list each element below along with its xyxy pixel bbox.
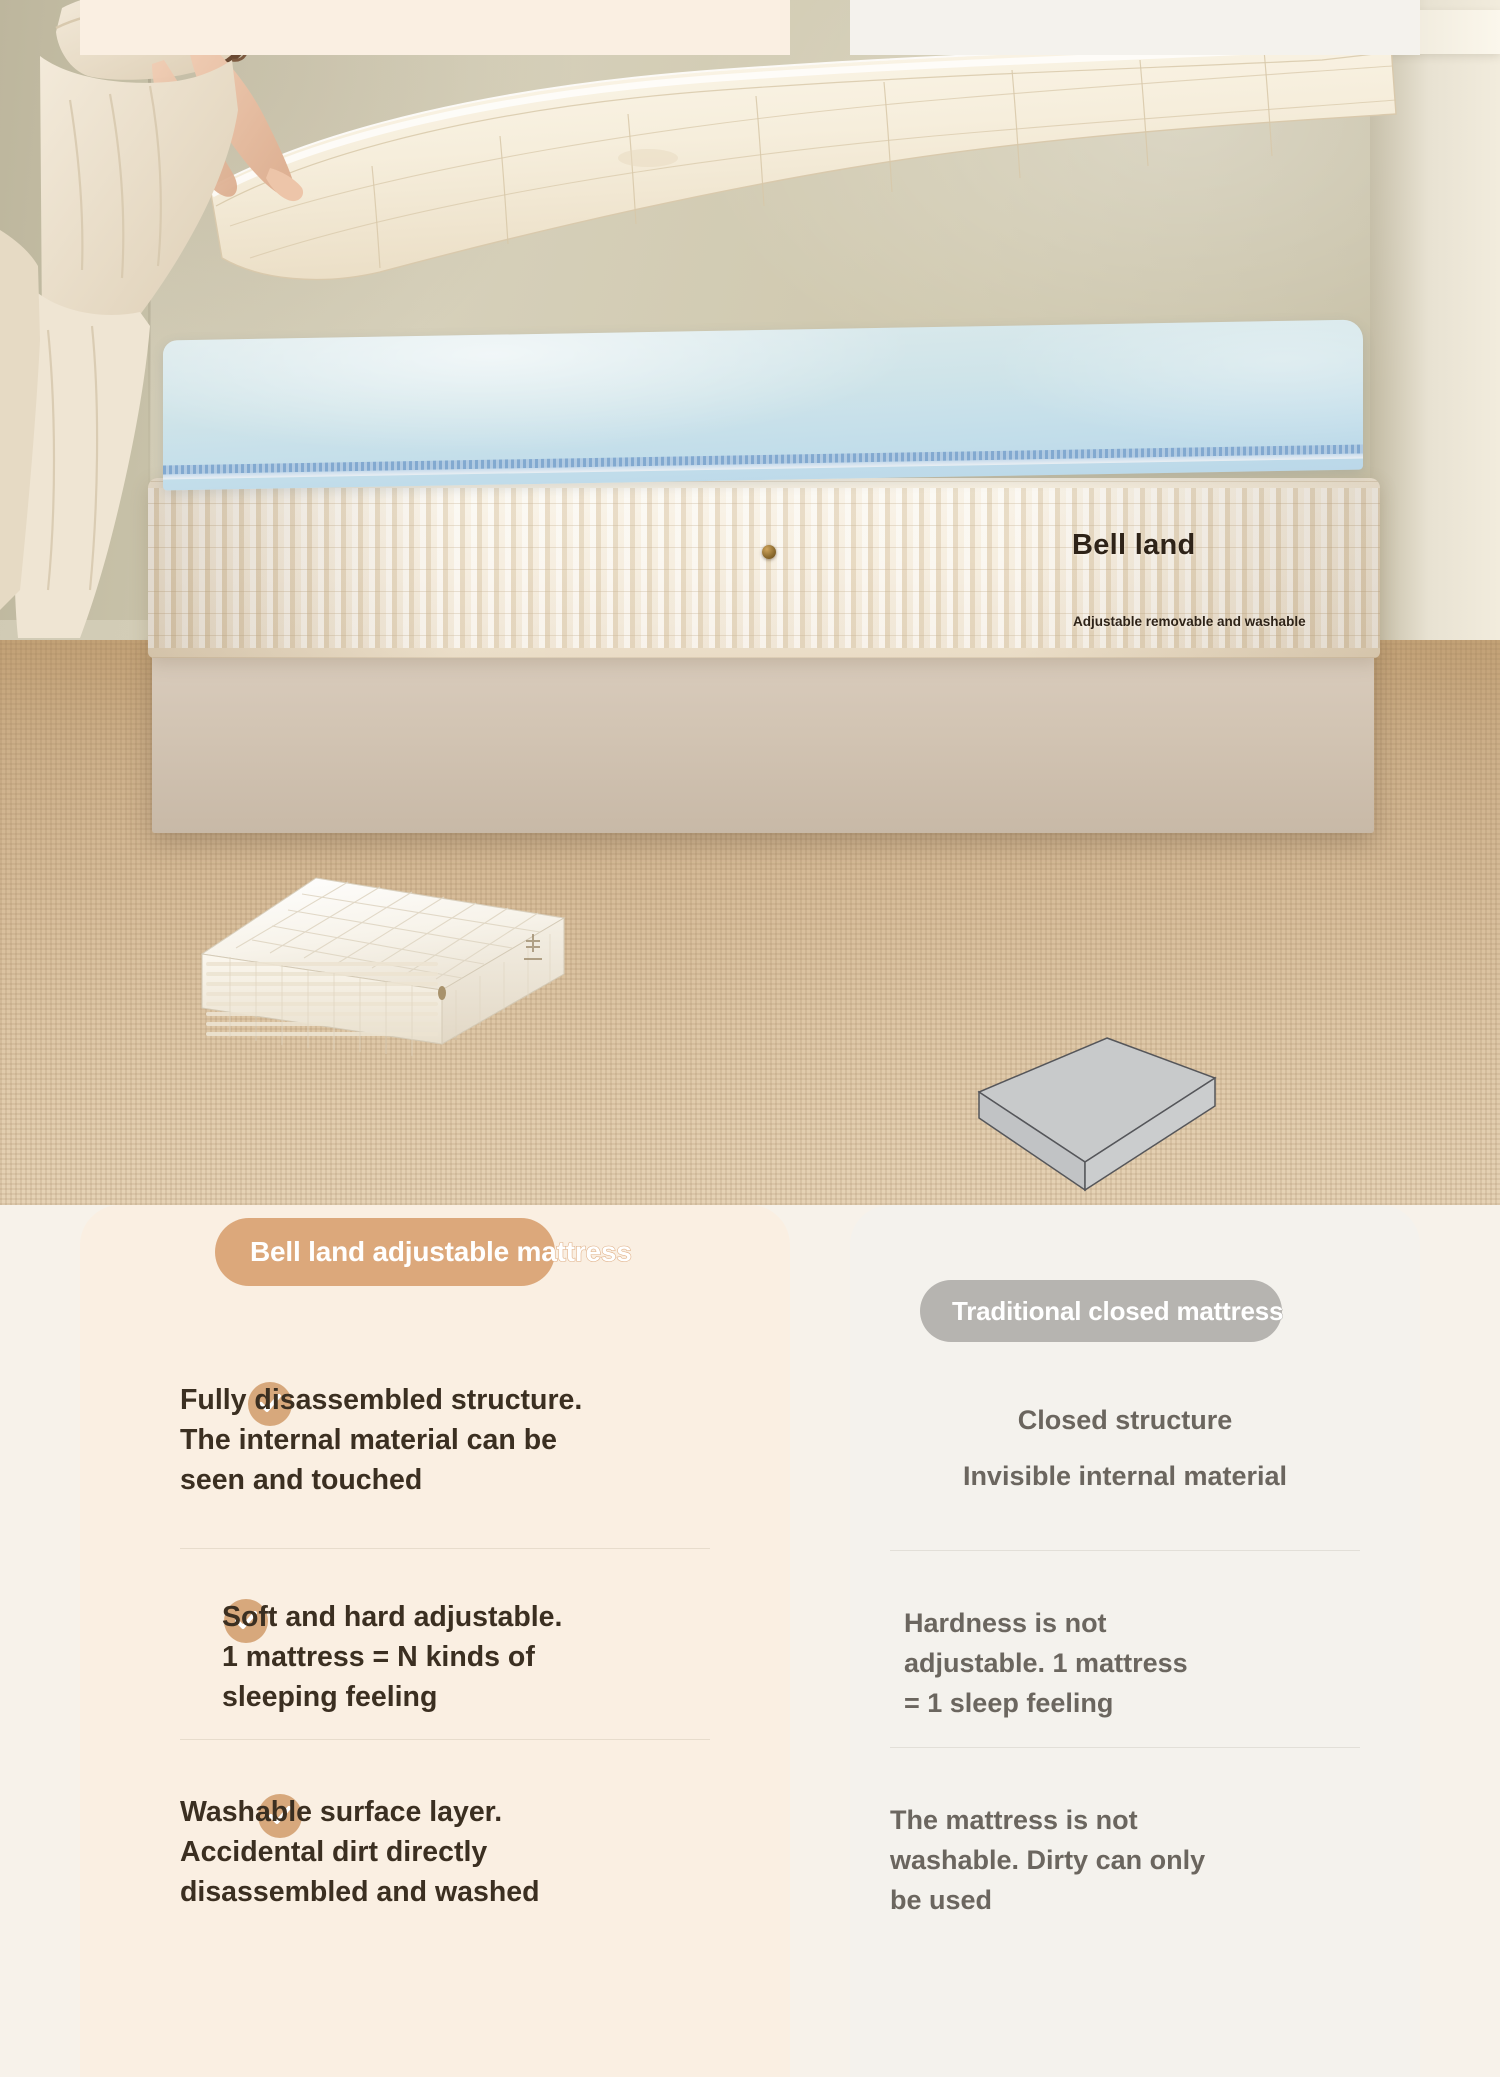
- person-figure: [0, 0, 420, 650]
- feature-list-right: Closed structure Invisible internal mate…: [890, 1400, 1360, 1920]
- feature-item: Soft and hard adjustable. 1 mattress = N…: [180, 1549, 710, 1717]
- feature-text: Washable surface layer. Accidental dirt …: [180, 1792, 710, 1912]
- comparison-card-right-top: [850, 0, 1420, 55]
- product-image-traditional-mattress: [975, 1030, 1305, 1195]
- feature-item: Hardness is not adjustable. 1 mattress =…: [890, 1551, 1360, 1723]
- product-image-bell-land-mattress: [140, 862, 620, 1062]
- feature-list-left: Fully disassembled structure. The intern…: [180, 1380, 710, 1912]
- feature-item: Fully disassembled structure. The intern…: [180, 1380, 710, 1530]
- feature-item: The mattress is not washable. Dirty can …: [890, 1748, 1360, 1920]
- feature-text: Hardness is not adjustable. 1 mattress =…: [904, 1603, 1360, 1723]
- brand-name: Bell land: [1072, 529, 1196, 562]
- feature-text: Closed structure: [890, 1400, 1360, 1440]
- badge-traditional-label: Traditional closed mattress: [952, 1298, 1283, 1324]
- feature-text: Invisible internal material: [890, 1456, 1360, 1496]
- feature-text: The mattress is not washable. Dirty can …: [890, 1800, 1360, 1920]
- feature-item: Closed structure: [890, 1400, 1360, 1456]
- feature-text: Fully disassembled structure. The intern…: [180, 1380, 710, 1500]
- feature-text: Soft and hard adjustable. 1 mattress = N…: [222, 1597, 710, 1717]
- bed-base: [152, 650, 1374, 833]
- feature-item: Invisible internal material: [890, 1456, 1360, 1534]
- comparison-card-left-top: [80, 0, 790, 55]
- mattress-button: [762, 545, 776, 559]
- brand-subtitle: Adjustable removable and washable: [1073, 614, 1306, 629]
- feature-item: Washable surface layer. Accidental dirt …: [180, 1740, 710, 1912]
- badge-bell-land-label: Bell land adjustable mattress: [250, 1238, 632, 1266]
